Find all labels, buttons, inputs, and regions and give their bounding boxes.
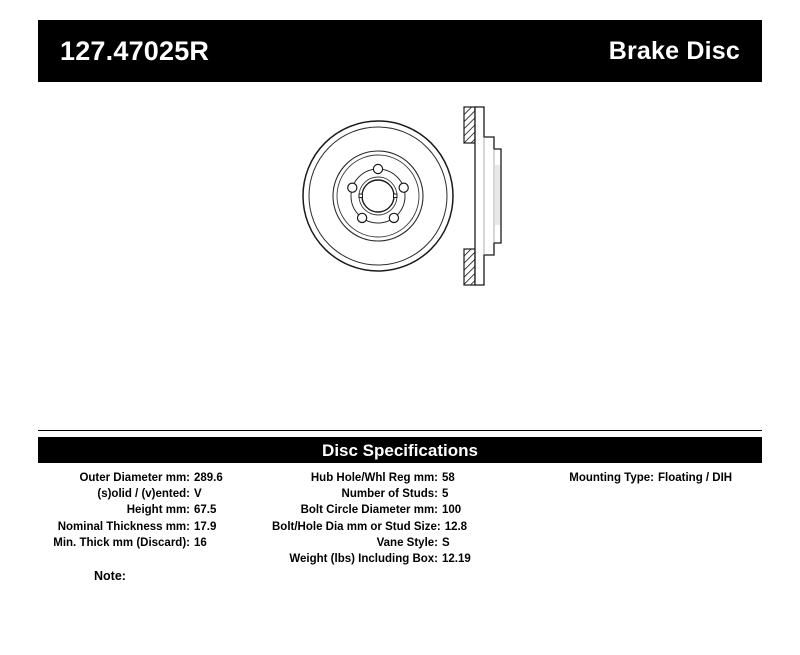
brake-rotor-cross-section-view	[464, 107, 501, 285]
spec-value: 289.6	[194, 470, 272, 486]
spec-value: Floating / DIH	[658, 470, 800, 486]
product-type-title: Brake Disc	[609, 39, 740, 64]
drawing-area	[0, 88, 800, 418]
spec-label: (s)olid / (v)ented:	[0, 486, 194, 502]
section-divider	[38, 430, 762, 431]
spec-value: 16	[194, 535, 272, 551]
spec-label: Height mm:	[0, 502, 194, 518]
spec-title-bar: Disc Specifications	[38, 437, 762, 463]
spec-row: Outer Diameter mm: 289.6	[0, 470, 272, 486]
spec-column-right: Mounting Type: Floating / DIH	[504, 470, 800, 486]
spec-value: 12.19	[442, 551, 504, 567]
spec-label: Bolt Circle Diameter mm:	[272, 502, 442, 518]
spec-row: Bolt/Hole Dia mm or Stud Size: 12.8	[272, 519, 504, 535]
spec-label: Vane Style:	[272, 535, 442, 551]
spec-label: Hub Hole/Whl Reg mm:	[272, 470, 442, 486]
spec-value: 100	[442, 502, 504, 518]
spec-value: 17.9	[194, 519, 272, 535]
spec-row: (s)olid / (v)ented: V	[0, 486, 272, 502]
spec-column-middle: Hub Hole/Whl Reg mm: 58 Number of Studs:…	[272, 470, 504, 567]
spec-label: Mounting Type:	[504, 470, 658, 486]
spec-row: Weight (lbs) Including Box: 12.19	[272, 551, 504, 567]
spec-row: Bolt Circle Diameter mm: 100	[272, 502, 504, 518]
brake-rotor-face-view	[303, 121, 453, 271]
spec-row: Vane Style: S	[272, 535, 504, 551]
spec-value: 67.5	[194, 502, 272, 518]
spec-value: V	[194, 486, 272, 502]
part-number: 127.47025R	[60, 38, 209, 65]
note-label: Note:	[94, 569, 126, 583]
spec-value: 5	[442, 486, 504, 502]
spec-row: Min. Thick mm (Discard): 16	[0, 535, 272, 551]
spec-value: S	[442, 535, 504, 551]
spec-row: Height mm: 67.5	[0, 502, 272, 518]
spec-column-left: Outer Diameter mm: 289.6 (s)olid / (v)en…	[0, 470, 272, 551]
spec-row: Number of Studs: 5	[272, 486, 504, 502]
spec-label: Weight (lbs) Including Box:	[272, 551, 442, 567]
spec-label: Outer Diameter mm:	[0, 470, 194, 486]
header-bar: 127.47025R Brake Disc	[38, 20, 762, 82]
note-row: Note:	[94, 570, 126, 583]
spec-value: 12.8	[445, 519, 507, 535]
brake-disc-technical-drawing	[280, 93, 540, 313]
spec-row: Nominal Thickness mm: 17.9	[0, 519, 272, 535]
spec-row: Mounting Type: Floating / DIH	[504, 470, 800, 486]
spec-value: 58	[442, 470, 504, 486]
spec-row: Hub Hole/Whl Reg mm: 58	[272, 470, 504, 486]
spec-label: Min. Thick mm (Discard):	[0, 535, 194, 551]
spec-label: Number of Studs:	[272, 486, 442, 502]
spec-label: Nominal Thickness mm:	[0, 519, 194, 535]
spec-title: Disc Specifications	[322, 442, 478, 459]
spec-label: Bolt/Hole Dia mm or Stud Size:	[272, 519, 445, 535]
